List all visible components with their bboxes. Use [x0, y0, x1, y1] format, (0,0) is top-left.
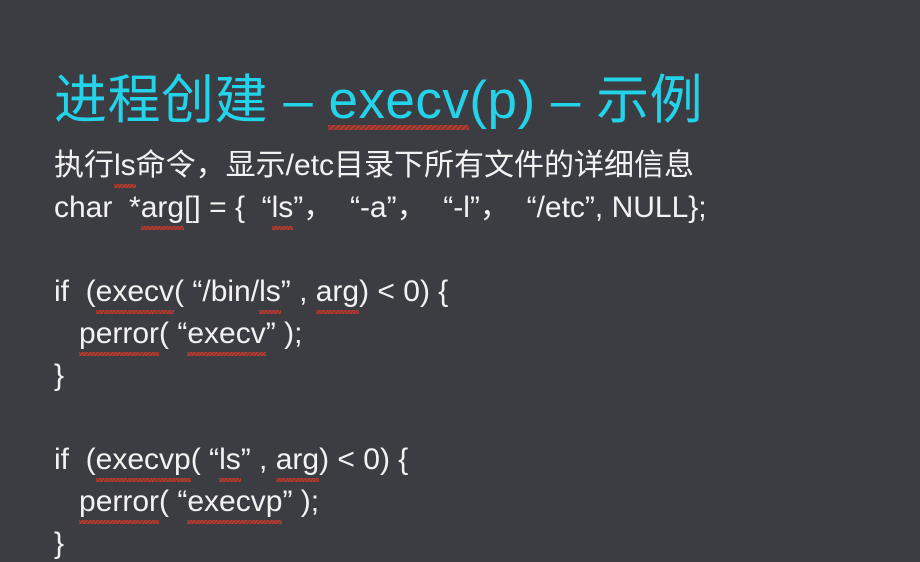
- code-segment-3-misspelled-1: execv: [96, 271, 174, 313]
- page-title: 进程创建 – execv(p) – 示例: [54, 70, 874, 132]
- code-segment-1-text-4: ”， “-a”， “-l”， “/etc”, NULL};: [293, 191, 706, 224]
- code-line: }: [54, 523, 904, 562]
- code-segment-4-misspelled-0: perror: [79, 313, 159, 355]
- title-segment-text-2: (p) – 示例: [469, 71, 703, 130]
- code-line: 执行ls命令，显示/etc目录下所有文件的详细信息: [54, 145, 904, 187]
- code-segment-7-misspelled-5: arg: [276, 439, 319, 481]
- code-segment-7-text-4: ” ,: [241, 443, 276, 476]
- code-segment-0-misspelled-1: ls: [114, 145, 136, 187]
- slide-body-text: 执行ls命令，显示/etc目录下所有文件的详细信息char *arg[] = {…: [54, 145, 904, 562]
- code-segment-0-text-0: 执行: [54, 149, 114, 182]
- code-segment-7-text-2: ( “: [191, 443, 219, 476]
- code-line: }: [54, 355, 904, 397]
- code-segment-1-misspelled-3: ls: [272, 187, 294, 229]
- code-indent: [54, 485, 79, 518]
- code-segment-8-misspelled-2: execvp: [187, 481, 282, 523]
- code-segment-4-text-3: ” );: [266, 317, 303, 350]
- code-line: if (execvp( “ls” , arg) < 0) {: [54, 439, 904, 481]
- code-segment-8-text-1: ( “: [159, 485, 187, 518]
- code-segment-7-text-0: if (: [54, 443, 96, 476]
- code-segment-3-text-2: ( “/bin/: [174, 275, 259, 308]
- slide-canvas: 进程创建 – execv(p) – 示例 执行ls命令，显示/etc目录下所有文…: [0, 0, 920, 562]
- code-segment-1-text-2: [] = { “: [184, 191, 272, 224]
- code-segment-3-misspelled-5: arg: [316, 271, 359, 313]
- code-segment-3-text-4: ” ,: [281, 275, 316, 308]
- code-segment-1-text-0: char *: [54, 191, 141, 224]
- code-segment-9-text-0: }: [54, 527, 64, 560]
- title-segment-text-0: 进程创建 –: [54, 71, 328, 130]
- code-line: perror( “execvp” );: [54, 481, 904, 523]
- code-segment-3-text-0: if (: [54, 275, 96, 308]
- code-segment-0-text-2: 命令，显示/etc目录下所有文件的详细信息: [136, 149, 694, 182]
- code-segment-8-misspelled-0: perror: [79, 481, 159, 523]
- code-line-blank: [54, 397, 904, 439]
- code-segment-4-text-1: ( “: [159, 317, 187, 350]
- code-line-blank: [54, 229, 904, 271]
- code-segment-3-misspelled-3: ls: [259, 271, 281, 313]
- code-segment-5-text-0: }: [54, 359, 64, 392]
- code-segment-7-misspelled-3: ls: [219, 439, 241, 481]
- code-segment-3-text-6: ) < 0) {: [359, 275, 448, 308]
- code-indent: [54, 317, 79, 350]
- code-segment-7-misspelled-1: execvp: [96, 439, 191, 481]
- code-line: perror( “execv” );: [54, 313, 904, 355]
- code-segment-1-misspelled-1: arg: [141, 187, 184, 229]
- title-segment-misspelled-1: execv: [328, 70, 469, 132]
- code-segment-4-misspelled-2: execv: [187, 313, 265, 355]
- code-segment-8-text-3: ” );: [282, 485, 319, 518]
- code-line: if (execv( “/bin/ls” , arg) < 0) {: [54, 271, 904, 313]
- code-line: char *arg[] = { “ls”， “-a”， “-l”， “/etc”…: [54, 187, 904, 229]
- code-segment-7-text-6: ) < 0) {: [319, 443, 408, 476]
